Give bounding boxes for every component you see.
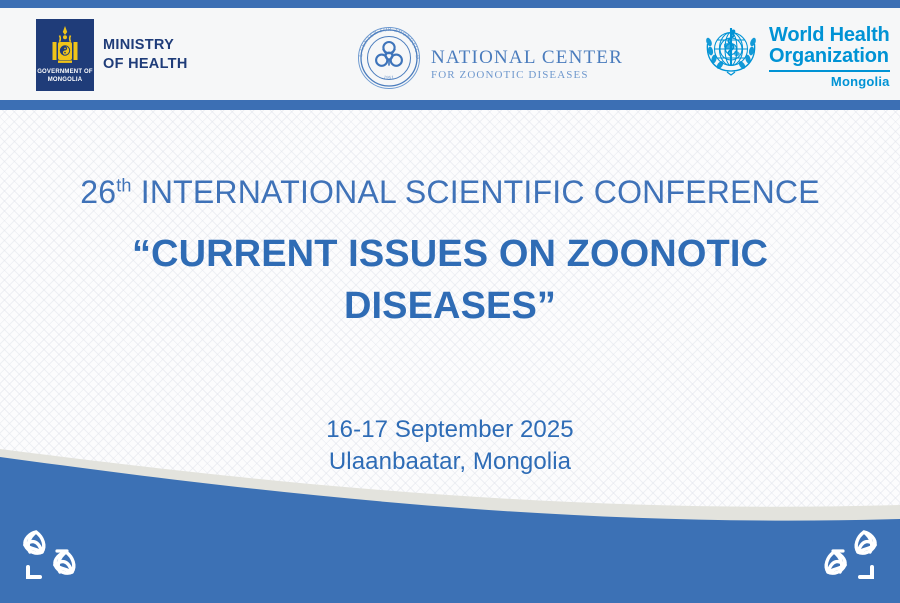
who-emblem-icon	[700, 20, 762, 82]
ministry-of-health-wordmark: MINISTRY OF HEALTH	[103, 36, 188, 74]
mongolia-state-emblem-icon: GOVERNMENT OF MONGOLIA	[36, 19, 94, 91]
ministry-label-line-2: OF HEALTH	[103, 55, 188, 74]
logo-national-center-zoonotic-diseases: NATIONAL CENTER FOR ZOONOTIC DISEASES 19…	[353, 22, 623, 94]
who-label-line-2: Organization	[769, 46, 890, 67]
event-details-block: 16-17 September 2025 Ulaanbaatar, Mongol…	[0, 414, 900, 478]
event-location: Ulaanbaatar, Mongolia	[0, 446, 900, 478]
conference-title-slide: GOVERNMENT OF MONGOLIA MINISTRY OF HEALT…	[0, 0, 900, 603]
zoonotic-seal-icon: NATIONAL CENTER FOR ZOONOTIC DISEASES 19…	[353, 22, 425, 94]
conference-ordinal-title: 26th INTERNATIONAL SCIENTIFIC CONFERENCE	[0, 172, 900, 212]
title-block: 26th INTERNATIONAL SCIENTIFIC CONFERENCE…	[0, 172, 900, 332]
who-label-line-1: World Health	[769, 25, 890, 46]
zoonotic-center-wordmark: NATIONAL CENTER FOR ZOONOTIC DISEASES	[431, 36, 623, 81]
who-underline-rule	[769, 70, 890, 72]
conference-ordinal-suffix: th	[116, 175, 131, 195]
zoonotic-label-line-2: FOR ZOONOTIC DISEASES	[431, 70, 623, 81]
event-date: 16-17 September 2025	[0, 414, 900, 446]
soyombo-symbol-icon	[45, 24, 85, 68]
ornament-left-ulzii-knot-icon	[14, 523, 94, 585]
who-country-label: Mongolia	[769, 74, 890, 89]
conference-title-rest: INTERNATIONAL SCIENTIFIC CONFERENCE	[132, 174, 820, 210]
emblem-line-2: MONGOLIA	[36, 77, 94, 84]
svg-text:1951: 1951	[383, 74, 394, 80]
zoonotic-label-line-1: NATIONAL CENTER	[431, 48, 623, 67]
conference-theme-title: “CURRENT ISSUES ON ZOONOTIC DISEASES”	[0, 228, 900, 332]
header-divider-bar	[0, 100, 900, 110]
ornament-right-ulzii-knot-icon	[806, 523, 886, 585]
ministry-label-line-1: MINISTRY	[103, 36, 188, 55]
logo-world-health-organization: World Health Organization Mongolia	[700, 20, 890, 89]
who-wordmark: World Health Organization Mongolia	[769, 20, 890, 89]
conference-ordinal-number: 26	[80, 174, 116, 210]
logo-ministry-of-health: GOVERNMENT OF MONGOLIA MINISTRY OF HEALT…	[36, 19, 188, 91]
top-accent-bar	[0, 0, 900, 8]
emblem-line-1: GOVERNMENT OF	[36, 69, 94, 76]
